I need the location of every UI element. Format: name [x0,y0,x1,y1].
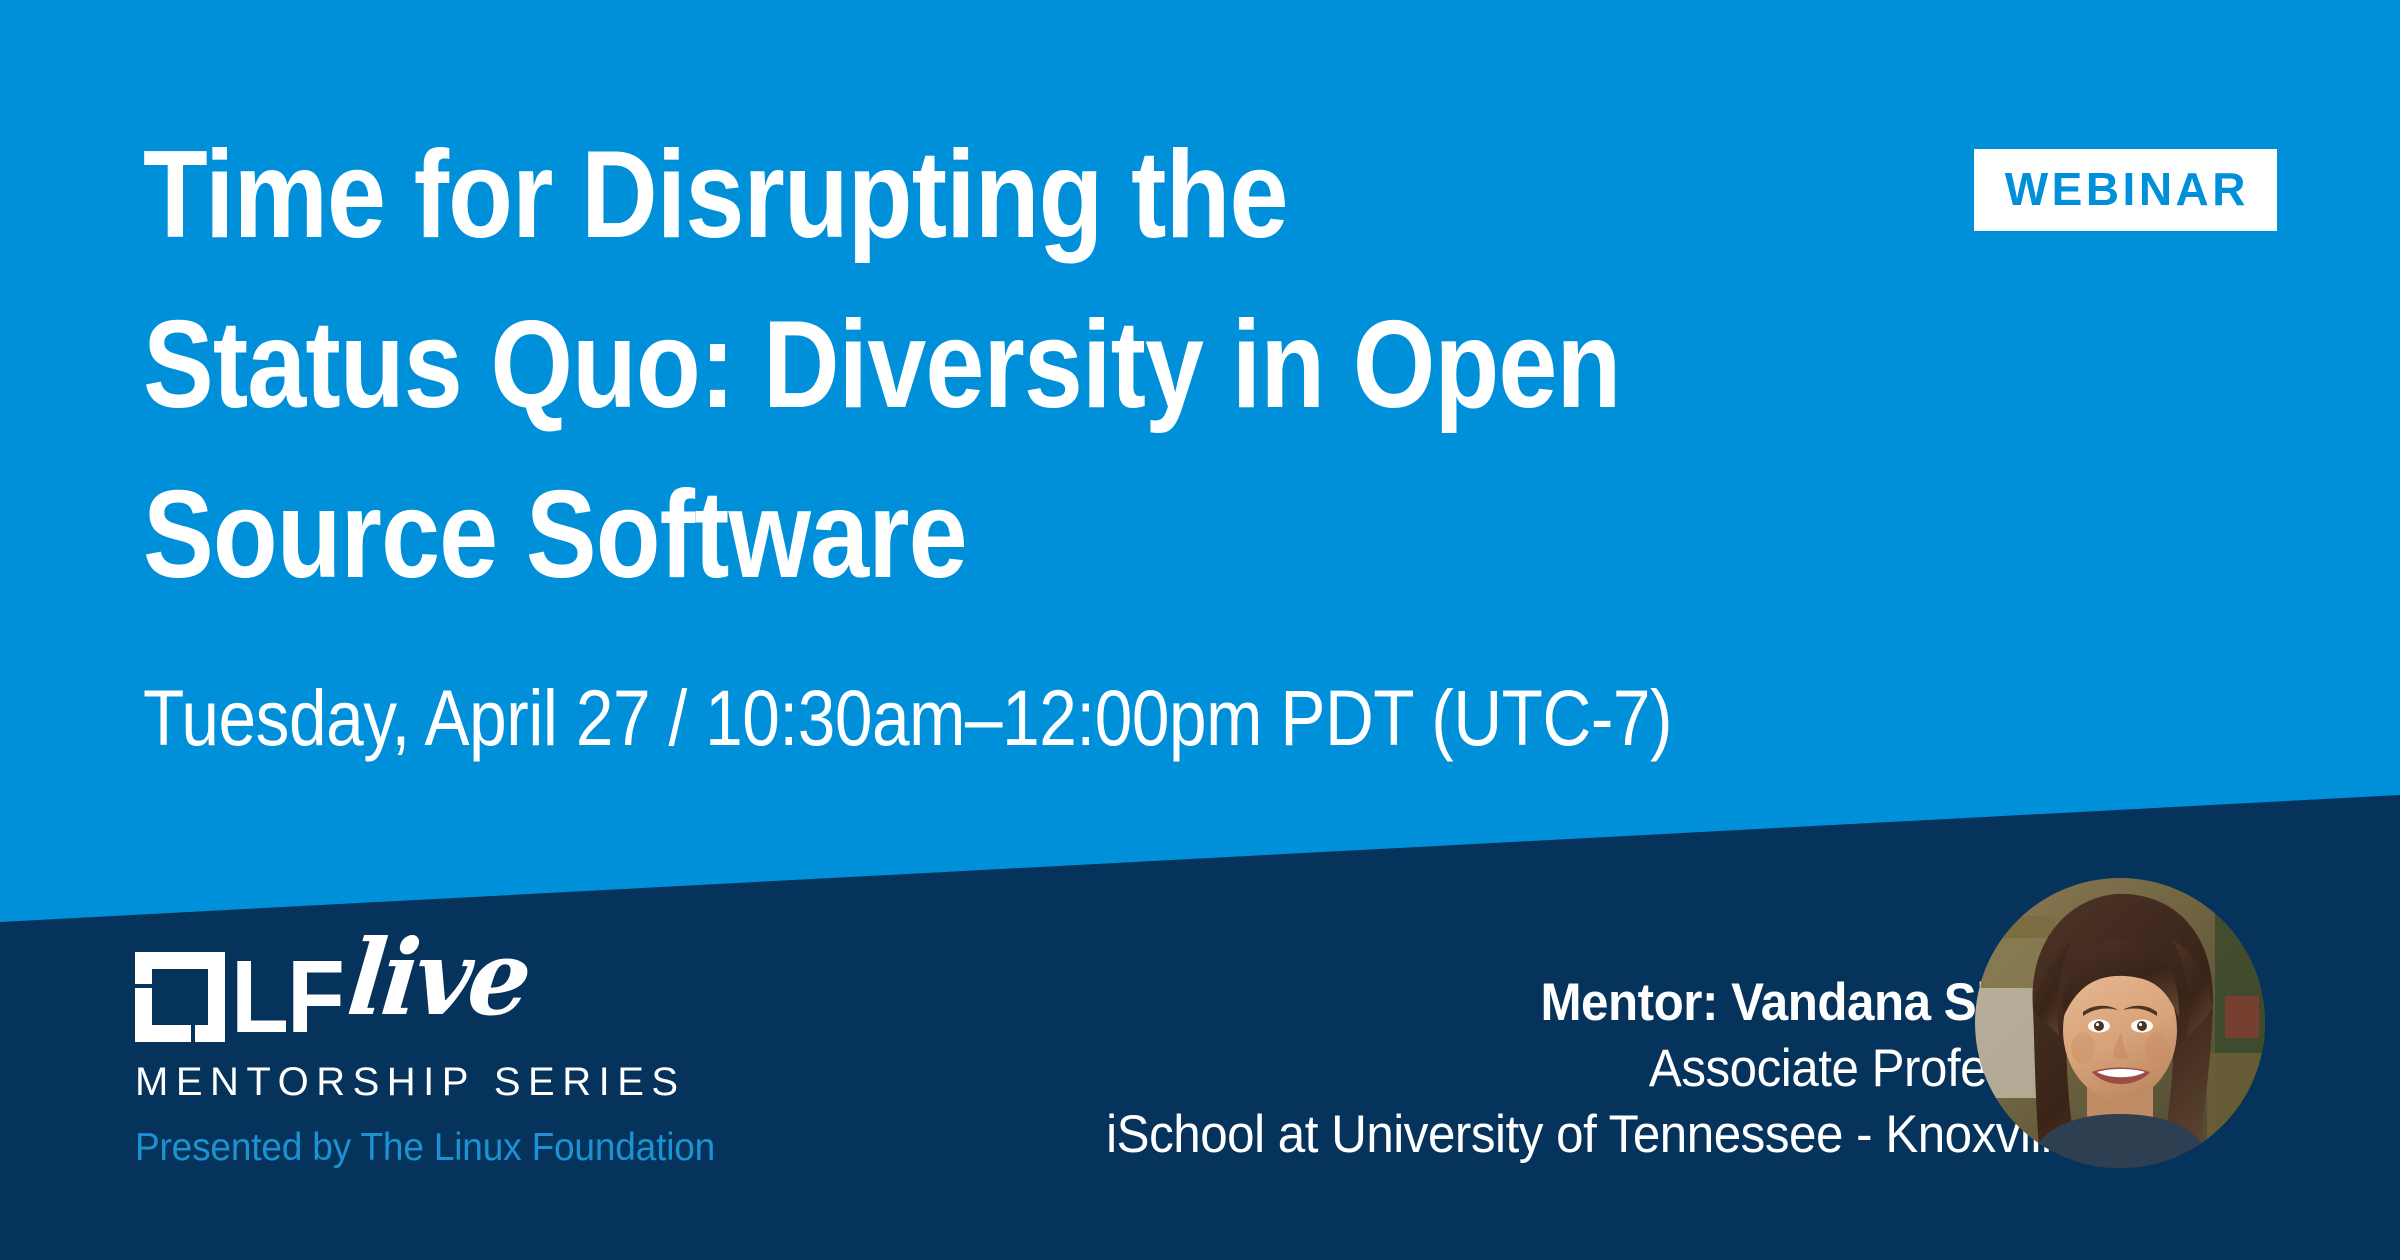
linux-foundation-bracket-mark-icon [135,952,225,1042]
title-line-2: Status Quo: Diversity in Open [143,280,1939,450]
headline-block: Time for Disrupting the Status Quo: Dive… [143,110,2243,766]
mentorship-series-label: MENTORSHIP SERIES [135,1062,746,1102]
title-line-1: Time for Disrupting the [143,110,1939,280]
live-script-wordmark: live [345,938,532,1018]
lf-live-logo-lockup: LF live MENTORSHIP SERIES Presented by T… [135,952,746,1167]
title-line-3: Source Software [143,450,1939,620]
mentor-name: Mentor: Vandana Singh [1106,970,2078,1036]
logo-row: LF live [135,952,746,1044]
page-title: Time for Disrupting the Status Quo: Dive… [143,110,1939,620]
presented-by-label: Presented by The Linux Foundation [135,1128,715,1167]
mentor-job-title: Associate Professor [1106,1036,2078,1102]
avatar [1975,878,2265,1168]
webinar-promo-banner: WEBINAR Time for Disrupting the Status Q… [0,0,2400,1260]
lf-wordmark: LF [231,952,343,1042]
speaker-headshot-image [1975,878,2265,1168]
event-datetime: Tuesday, April 27 / 10:30am–12:00pm PDT … [143,620,1939,766]
mentor-affiliation: iSchool at University of Tennessee - Kno… [1106,1102,2078,1168]
mentor-credit-block: Mentor: Vandana Singh Associate Professo… [1106,970,2078,1168]
